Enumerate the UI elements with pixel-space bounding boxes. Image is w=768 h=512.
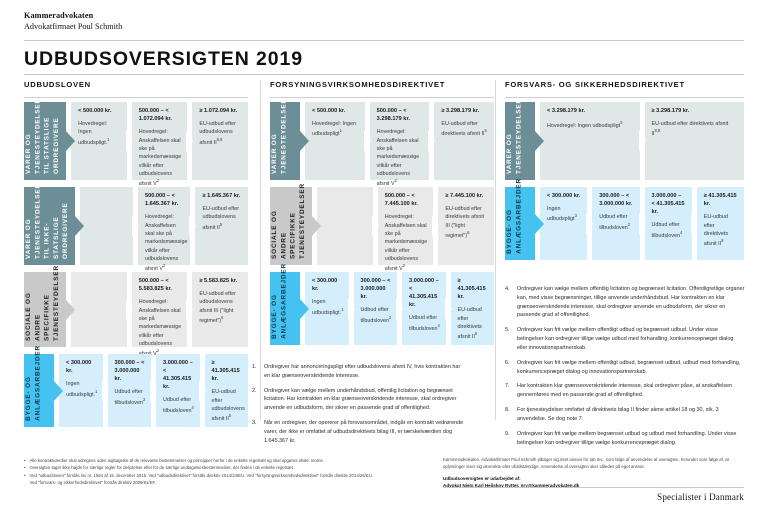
footnote-text: For tjenesteydelser omfattet af direktiv…: [517, 406, 745, 424]
credit-author: Advokat Niels Karl Heilskov Rytter, nry@…: [443, 482, 744, 490]
chevron-right-icon: [372, 215, 379, 237]
chevron-right-icon: [586, 213, 593, 235]
threshold-amount: < 300.000 kr.: [66, 359, 97, 375]
footnote-item: 2.Ordregiver kan vælge mellem underhånds…: [252, 387, 464, 413]
footer-bullet-text: Oversigten tager ikke højde for særlige …: [30, 464, 295, 471]
credit-label: Udbudsoversigten er udarbejdet af:: [443, 475, 744, 483]
threshold-description: Udbud efter tilbudsloven4: [652, 221, 686, 240]
flow-cell: < 3.298.179 kr.Hovedregel: Ingen udbudsp…: [540, 102, 640, 180]
footnote-text: Ordregiver kan frit vælge mellem offentl…: [517, 326, 745, 352]
threshold-description: EU-udbud efter direktivets afsnit III ("…: [445, 205, 488, 240]
flow-cell: 3.000.000 – < 41.305.415 kr.Udbud efter …: [645, 187, 692, 260]
threshold-description: EU-udbud efter direktivets afsnit II9: [704, 213, 738, 248]
footnote-number: 6.: [505, 359, 513, 377]
footnote-number: 4.: [505, 285, 513, 320]
row-category-label: BYGGE- OG ANLÆGSARBEJDER: [505, 187, 535, 260]
brand-block: Kammeradvokaten Advokatfirmaet Poul Schm…: [24, 10, 122, 32]
threshold-description: Hovedregel: Ingen udbudspligt.1: [78, 120, 121, 147]
threshold-description: Udbud efter tilbudsloven2: [361, 306, 392, 325]
arrow-tip-icon: [54, 381, 63, 401]
threshold-description: Hovedregel: Anskaffelsen skal ske på mar…: [139, 298, 182, 358]
flow-row: BYGGE- OG ANLÆGSARBEJDER< 300.000 kr.Ing…: [24, 354, 248, 427]
footnote-text: Ordregiver kan vælge mellem offentlig li…: [517, 285, 745, 320]
disclaimer-text: Kammeradvokaten, Advokatfirmaet Poul Sch…: [443, 456, 744, 471]
threshold-description: Hovedregel: Anskaffelsen skal ske på mar…: [377, 128, 424, 188]
flow-cell: 3.000.000 – < 41.305.415 kr.Udbud efter …: [156, 354, 200, 427]
footnote-text: Når en ordregiver, der opererer på forsv…: [264, 419, 464, 445]
threshold-amount: 500.000 – < 1.645.367 kr.: [145, 192, 185, 208]
threshold-description: Ingen udbudspligt3: [547, 205, 581, 224]
chevron-right-icon: [396, 298, 403, 320]
flow-row: VARER OG TJENESTEYDELSER< 3.298.179 kr.H…: [505, 102, 744, 180]
footer-bullet-text: Alle kontraktværdier skal udregnes uden …: [30, 457, 324, 464]
footnote-text: Ordregiver kan frit vælge mellem begræns…: [517, 430, 745, 448]
slogan: Specialister i Danmark: [657, 492, 744, 502]
flow-cell-empty: [71, 272, 127, 347]
threshold-amount: ≥ 41.305.415 kr.: [212, 359, 243, 383]
footer-credits: Kammeradvokaten, Advokatfirmaet Poul Sch…: [443, 456, 744, 490]
footnote-item: 7.Har kontrakten klar grænseoverskridend…: [505, 382, 745, 400]
chevron-right-icon: [445, 298, 452, 320]
footnote-number: 9.: [505, 430, 513, 448]
row-category-label: VARER OG TJENESTEYDELSER: [505, 102, 535, 180]
row-category-text: BYGGE- OG ANLÆGSARBEJDER: [505, 171, 529, 260]
threshold-amount: 500.000 – < 5.583.825 kr.: [139, 277, 182, 293]
flow-row: BYGGE- OG ANLÆGSARBEJDER< 300.000 kr.Ing…: [270, 272, 494, 345]
chevron-right-icon: [364, 130, 371, 152]
flow-row: SOCIALE OG ANDRE SPECIFIKKE TJENESTEYDEL…: [24, 272, 248, 347]
row-category-label: SOCIALE OG ANDRE SPECIFIKKE TJENESTEYDEL…: [24, 272, 66, 347]
footnote-text: Ordregiver kan frit vælge mellem offentl…: [517, 359, 745, 377]
footnote-item: 1.Ordregiver har annonceringspligt efter…: [252, 363, 464, 381]
arrow-tip-icon: [66, 131, 75, 151]
arrow-tip-icon: [300, 299, 309, 319]
threshold-amount: 500.000 – < 1.072.094 kr.: [139, 107, 182, 123]
threshold-description: EU-udbud efter udbudslovens afsnit II5,8: [199, 120, 242, 147]
flow-cell: 300.000 – < 3.000.000 kr.Udbud efter til…: [108, 354, 152, 427]
footnote-item: 8.For tjenesteydelser omfattet af direkt…: [505, 406, 745, 424]
flow-cell: < 300.000 kr.Ingen udbudspligt.1: [59, 354, 103, 427]
chevron-right-icon: [691, 213, 698, 235]
footer-bullet-text: Ved "forsvars- og sikkerhedsdirektivet" …: [30, 479, 156, 486]
columns-area: UDBUDSLOVEN FORSYNINGSVIRKSOMHEDSDIREKTI…: [24, 80, 744, 98]
chevron-right-icon: [126, 299, 133, 321]
flow-cell: 3.000.000 – < 41.305.415 kr.Udbud efter …: [402, 272, 446, 345]
threshold-description: Ingen udbudspligt.1: [312, 298, 343, 317]
footer-bullet-item: •Oversigten tager ikke højde for særlige…: [24, 464, 424, 471]
arrow-tip-icon: [535, 214, 544, 234]
flow-cell: 500.000 – < 5.583.825 kr.Hovedregel: Ans…: [132, 272, 188, 347]
footnote-text: Har kontrakten klar grænseoverskridende …: [517, 382, 745, 400]
flow-cell: < 300.000 kr.Ingen udbudspligt.1: [305, 272, 349, 345]
threshold-amount: 500.000 – < 7.445.100 kr.: [385, 192, 428, 208]
poster-root: Kammeradvokaten Advokatfirmaet Poul Schm…: [0, 0, 768, 512]
threshold-description: Hovedregel: Anskaffelsen skal ske på mar…: [145, 213, 185, 273]
threshold-amount: 3.000.000 – < 41.305.415 kr.: [409, 277, 440, 309]
arrow-tip-icon: [300, 131, 309, 151]
notes-left-block: 1.Ordregiver har annonceringspligt efter…: [252, 363, 464, 452]
footnote-number: 5.: [505, 326, 513, 352]
threshold-amount: 500.000 – < 3.298.179 kr.: [377, 107, 424, 123]
footnote-item: 3.Når en ordregiver, der opererer på for…: [252, 419, 464, 445]
row-category-text: VARER OG TJENESTEYDELSER: [270, 91, 294, 180]
chevron-right-icon: [199, 380, 206, 402]
flow-row: BYGGE- OG ANLÆGSARBEJDER< 300.000 kr.Ing…: [505, 187, 744, 260]
page-title: UDBUDSOVERSIGTEN 2019: [24, 48, 303, 71]
threshold-amount: 300.000 – < 3.000.000 kr.: [361, 277, 392, 301]
threshold-amount: ≥ 7.445.100 kr.: [445, 192, 488, 200]
chevron-right-icon: [428, 130, 435, 152]
flow-row: VARER OG TJENESTEYDELSER< 500.000 kr.Hov…: [270, 102, 494, 180]
flow-cell: 500.000 – < 1.645.367 kr.Hovedregel: Ans…: [138, 187, 191, 265]
threshold-amount: 300.000 – < 3.000.000 kr.: [599, 192, 633, 208]
column-rule-3: [505, 97, 744, 98]
bullet-icon: •: [24, 464, 27, 471]
footnote-text: Ordregiver har annonceringspligt efter u…: [264, 363, 464, 381]
row-category-text: BYGGE- OG ANLÆGSARBEJDER: [270, 256, 294, 345]
column-heading-udbudsloven: UDBUDSLOVEN: [24, 80, 91, 89]
threshold-amount: 3.000.000 – < 41.305.415 kr.: [163, 359, 194, 391]
flow-cell: ≥ 7.445.100 kr.EU-udbud efter direktivet…: [438, 187, 494, 265]
footer-bullet-item: Ved "forsvars- og sikkerhedsdirektivet" …: [24, 479, 424, 486]
bullet-icon: [24, 479, 27, 486]
chevron-right-icon: [186, 299, 193, 321]
footnote-text: Ordregiver kan vælge mellem underhåndsbu…: [264, 387, 464, 413]
row-category-text: VARER OG TJENESTEYDELSER: [505, 91, 529, 180]
arrow-tip-icon: [312, 216, 321, 236]
flow-cell-empty: [317, 187, 373, 265]
flow-cell: ≥ 1.072.094 kr.EU-udbud efter udbudslove…: [192, 102, 248, 180]
flow-cell: < 500.000 kr.Hovedregel: Ingen udbudspli…: [71, 102, 127, 180]
row-category-label: BYGGE- OG ANLÆGSARBEJDER: [24, 354, 54, 427]
chevron-right-icon: [150, 380, 157, 402]
chevron-right-icon: [132, 215, 139, 237]
footnote-number: 7.: [505, 382, 513, 400]
row-category-label: BYGGE- OG ANLÆGSARBEJDER: [270, 272, 300, 345]
chevron-right-icon: [189, 215, 196, 237]
bullet-icon: •: [24, 472, 27, 479]
threshold-description: Udbud efter tilbudsloven4: [163, 396, 194, 415]
chevron-right-icon: [432, 215, 439, 237]
footnote-item: 6.Ordregiver kan frit vælge mellem offen…: [505, 359, 745, 377]
footer-bullet-item: •Alle kontraktværdier skal udregnes uden…: [24, 457, 424, 464]
divider-under-title: [24, 74, 744, 75]
arrow-tip-icon: [535, 131, 544, 151]
footer-notes-left: •Alle kontraktværdier skal udregnes uden…: [24, 457, 424, 486]
threshold-amount: ≥ 1.645.367 kr.: [202, 192, 242, 200]
brand-name: Kammeradvokaten: [24, 10, 122, 21]
flow-cell: 500.000 – < 1.072.094 kr.Hovedregel: Ans…: [132, 102, 188, 180]
threshold-description: Hovedregel: Ingen udbudspligt3: [547, 120, 634, 130]
threshold-description: Udbud efter tilbudsloven2: [115, 388, 146, 407]
row-category-label: VARER OG TJENESTEYDELSER TIL IKKE-STATSL…: [24, 187, 75, 265]
flow-row: VARER OG TJENESTEYDELSER TIL IKKE-STATSL…: [24, 187, 248, 265]
flow-cell: < 300.000 kr.Ingen udbudspligt3: [540, 187, 587, 260]
threshold-amount: ≥ 5.583.825 kr.: [199, 277, 242, 285]
row-category-text: SOCIALE OG ANDRE SPECIFIKKE TJENESTEYDEL…: [24, 258, 66, 347]
flow-cell: 300.000 – < 3.000.000 kr.Udbud efter til…: [354, 272, 398, 345]
flow-cell: ≥ 41.305.415 kr.EU-udbud efter udbudslov…: [205, 354, 249, 427]
footer-bullet-text: Ved "udbudsloven" forstås lov nr. 1564 a…: [30, 472, 374, 479]
row-category-label: SOCIALE OG ANDRE SPECIFIKKE TJENESTEYDEL…: [270, 187, 312, 265]
brand-subtitle: Advokatfirmaet Poul Schmith: [24, 21, 122, 32]
chevron-right-icon: [639, 213, 646, 235]
threshold-description: EU-udbud efter udbudslovens afsnit II5: [202, 205, 242, 232]
row-category-text: VARER OG TJENESTEYDELSER TIL IKKE-STATSL…: [24, 176, 75, 265]
flow-cell: < 500.000 kr.Hovedregel: Ingen udbudspli…: [305, 102, 365, 180]
threshold-description: EU-udbud efter direktivets afsnit II8,9: [652, 120, 739, 139]
threshold-amount: ≥ 3.298.179 kr.: [652, 107, 739, 115]
flow-row: SOCIALE OG ANDRE SPECIFIKKE TJENESTEYDEL…: [270, 187, 494, 265]
threshold-description: Ingen udbudspligt.1: [66, 380, 97, 399]
threshold-amount: 300.000 – < 3.000.000 kr.: [115, 359, 146, 383]
footnote-item: 4.Ordregiver kan vælge mellem offentlig …: [505, 285, 745, 320]
divider-top: [24, 40, 744, 41]
flow-cell: ≥ 1.645.367 kr.EU-udbud efter udbudslove…: [195, 187, 248, 265]
threshold-description: Hovedregel: Ingen udbudspligt1: [312, 120, 359, 139]
threshold-amount: 3.000.000 – < 41.305.415 kr.: [652, 192, 686, 216]
column-separator-2: [495, 80, 496, 420]
threshold-description: Udbud efter tilbudsloven4: [409, 314, 440, 333]
column-heading-forsvar: FORSVARS- OG SIKKERHEDSDIREKTIVET: [505, 80, 685, 89]
row-category-label: VARER OG TJENESTEYDELSER: [270, 102, 300, 180]
threshold-amount: ≥ 1.072.094 kr.: [199, 107, 242, 115]
chevron-right-icon: [102, 380, 109, 402]
threshold-amount: ≥ 41.305.415 kr.: [458, 277, 489, 301]
threshold-description: Udbud efter tilbudsloven2: [599, 213, 633, 232]
threshold-amount: < 3.298.179 kr.: [547, 107, 634, 115]
footnote-number: 1.: [252, 363, 260, 381]
threshold-description: EU-udbud efter direktivets afsnit II6: [441, 120, 488, 139]
threshold-amount: < 300.000 kr.: [312, 277, 343, 293]
footnote-number: 8.: [505, 406, 513, 424]
bullet-icon: •: [24, 457, 27, 464]
threshold-amount: < 500.000 kr.: [312, 107, 359, 115]
flow-cell: ≥ 41.305.415 kr.EU-udbud efter direktive…: [451, 272, 495, 345]
arrow-tip-icon: [66, 300, 75, 320]
threshold-amount: ≥ 3.298.179 kr.: [441, 107, 488, 115]
notes-right-block: 4.Ordregiver kan vælge mellem offentlig …: [505, 285, 745, 453]
column-rule-2: [270, 97, 494, 98]
threshold-description: Hovedregel: Anskaffelsen skal ske på mar…: [385, 213, 428, 273]
threshold-description: EU-udbud efter direktivets afsnit II6: [458, 306, 489, 341]
chevron-right-icon: [126, 130, 133, 152]
flow-cell-empty: [80, 187, 133, 265]
threshold-description: Hovedregel: Anskaffelsen skal ske på mar…: [139, 128, 182, 188]
flow-cell: ≥ 3.298.179 kr.EU-udbud efter direktivet…: [645, 102, 745, 180]
flow-cell: 300.000 – < 3.000.000 kr.Udbud efter til…: [592, 187, 639, 260]
arrow-tip-icon: [75, 216, 84, 236]
column-headings: UDBUDSLOVEN FORSYNINGSVIRKSOMHEDSDIREKTI…: [24, 80, 744, 98]
column-heading-forsyning: FORSYNINGSVIRKSOMHEDSDIREKTIVET: [270, 80, 445, 89]
chevron-right-icon: [639, 130, 646, 152]
threshold-description: EU-udbud efter udbudslovens afsnit II5: [212, 388, 243, 423]
flow-cell: ≥ 5.583.825 kr.EU-udbud efter udbudslove…: [192, 272, 248, 347]
flow-cell: 500.000 – < 3.298.179 kr.Hovedregel: Ans…: [370, 102, 430, 180]
footnote-item: 5.Ordregiver kan frit vælge mellem offen…: [505, 326, 745, 352]
row-category-label: VARER OG TJENESTEYDELSER TIL STATSLIGE O…: [24, 102, 66, 180]
footnote-item: 9.Ordregiver kan frit vælge mellem begræ…: [505, 430, 745, 448]
footnote-number: 3.: [252, 419, 260, 445]
threshold-amount: < 300.000 kr.: [547, 192, 581, 200]
row-category-text: SOCIALE OG ANDRE SPECIFIKKE TJENESTEYDEL…: [270, 176, 312, 265]
row-category-text: VARER OG TJENESTEYDELSER TIL STATSLIGE O…: [24, 91, 66, 180]
row-category-text: BYGGE- OG ANLÆGSARBEJDER: [24, 338, 48, 427]
flow-cell: ≥ 41.305.415 kr.EU-udbud efter direktive…: [697, 187, 744, 260]
footnote-number: 2.: [252, 387, 260, 413]
flow-cell: ≥ 3.298.179 kr.EU-udbud efter direktivet…: [434, 102, 494, 180]
threshold-description: EU-udbud efter udbudslovens afsnit III (…: [199, 290, 242, 325]
chevron-right-icon: [348, 298, 355, 320]
chevron-right-icon: [186, 130, 193, 152]
flow-row: VARER OG TJENESTEYDELSER TIL STATSLIGE O…: [24, 102, 248, 180]
threshold-amount: < 500.000 kr.: [78, 107, 121, 115]
footer-bullet-item: •Ved "udbudsloven" forstås lov nr. 1564 …: [24, 472, 424, 479]
flow-cell: 500.000 – < 7.445.100 kr.Hovedregel: Ans…: [378, 187, 434, 265]
threshold-amount: ≥ 41.305.415 kr.: [704, 192, 738, 208]
divider-footer: [443, 487, 744, 488]
